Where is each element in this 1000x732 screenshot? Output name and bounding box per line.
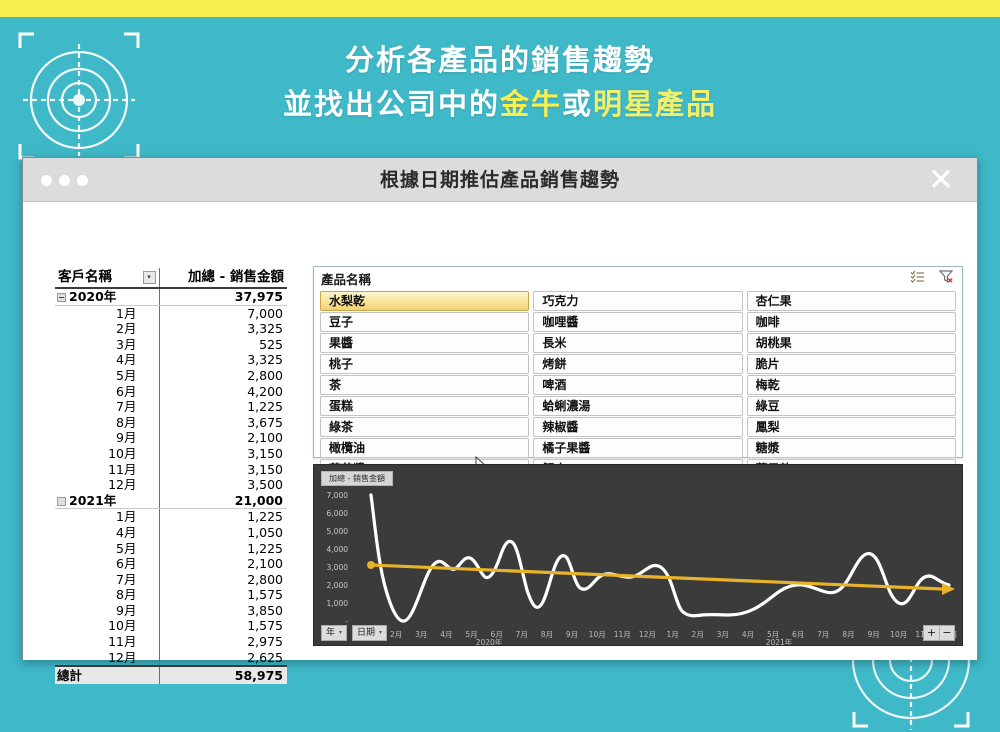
chart-x-tick: 2月 xyxy=(390,630,402,639)
chart-y-axis: 7,000 6,000 5,000 4,000 3,000 2,000 1,00… xyxy=(327,491,349,626)
pivot-row: 10月1,575 xyxy=(55,618,287,634)
pivot-row-label-text: 4月 xyxy=(116,525,136,540)
pivot-header-row: 客戶名稱 ▾ 加總 - 銷售金額 xyxy=(55,268,287,288)
pivot-row-label: 1月 xyxy=(55,509,159,525)
chart-plot-area: 7,000 6,000 5,000 4,000 3,000 2,000 1,00… xyxy=(314,465,963,646)
pivot-row-label-text: 5月 xyxy=(116,541,136,556)
slicer-item[interactable]: 蛋糕 xyxy=(320,396,529,416)
pivot-row: 1月1,225 xyxy=(55,509,287,525)
pivot-row-label-text: 12月 xyxy=(108,477,136,492)
pivot-row-value: 3,675 xyxy=(159,415,287,431)
svg-text:3,000: 3,000 xyxy=(327,563,349,572)
close-icon[interactable]: ✕ xyxy=(925,164,957,196)
pivot-row-label: 12月 xyxy=(55,650,159,667)
pivot-row: 7月2,800 xyxy=(55,572,287,588)
slicer-item[interactable]: 糖漿 xyxy=(747,438,956,458)
svg-text:2,000: 2,000 xyxy=(327,581,349,590)
pivot-total-value: 58,975 xyxy=(159,666,287,684)
chart-x-tick: 2月 xyxy=(692,630,704,639)
pivot-row-label-text: 10月 xyxy=(108,618,136,633)
headline-line1: 分析各產品的銷售趨勢 xyxy=(345,43,655,77)
pivot-row-value: 37,975 xyxy=(159,288,287,305)
svg-text:1,000: 1,000 xyxy=(327,599,349,608)
expand-collapse-icon[interactable] xyxy=(57,497,66,506)
chart-zoom-box[interactable]: + − xyxy=(923,625,955,641)
pivot-row: −2020年37,975 xyxy=(55,288,287,305)
pivot-row-label: 5月 xyxy=(55,368,159,384)
pivot-row-label: 4月 xyxy=(55,352,159,368)
pivot-row-label-text: 5月 xyxy=(116,368,136,383)
chart-x-tick: 9月 xyxy=(566,630,578,639)
chart-level-button[interactable]: 年 ▾ xyxy=(321,625,347,641)
pivot-row-value: 1,050 xyxy=(159,525,287,541)
pivot-row: 10月3,150 xyxy=(55,446,287,462)
slicer-items: 水梨乾巧克力杏仁果豆子咖哩醬咖啡果醬長米胡桃果桃子烤餅脆片茶啤酒梅乾蛋糕蛤蜊濃湯… xyxy=(320,291,956,451)
chart-group-label: 2020年 xyxy=(476,637,503,646)
slicer-item[interactable]: 綠豆 xyxy=(747,396,956,416)
chart-x-tick: 1月 xyxy=(666,630,678,639)
slicer-header-icons xyxy=(910,270,954,286)
pivot-row-value: 2,800 xyxy=(159,368,287,384)
headline-line2-part2: 或 xyxy=(562,87,593,121)
pivot-row-label: 10月 xyxy=(55,618,159,634)
pivot-row-value: 3,850 xyxy=(159,603,287,619)
headline-line2-part1: 並找出公司中的 xyxy=(283,87,500,121)
pivot-row-label-text: 2020年 xyxy=(69,289,116,304)
chart-x-tick: 3月 xyxy=(415,630,427,639)
pivot-row-label-text: 8月 xyxy=(116,415,136,430)
product-slicer: 產品名稱 xyxy=(313,266,963,458)
pivot-row-value: 2,975 xyxy=(159,634,287,650)
pivot-header-label: 客戶名稱 ▾ xyxy=(55,268,159,288)
pivot-row: 6月4,200 xyxy=(55,384,287,400)
pivot-row: 3月525 xyxy=(55,337,287,353)
pivot-row: 11月2,975 xyxy=(55,634,287,650)
chevron-down-icon-2: ▾ xyxy=(379,628,382,638)
chart-field-label: 日期 xyxy=(357,628,375,638)
pivot-row-value: 2,100 xyxy=(159,430,287,446)
chart-zoom-controls: + − xyxy=(923,625,955,641)
pivot-row-label-text: 7月 xyxy=(116,399,136,414)
chart-x-tick: 10月 xyxy=(890,630,907,639)
slicer-item[interactable]: 長米 xyxy=(533,333,742,353)
pivot-row-label-text: 1月 xyxy=(116,509,136,524)
pivot-row: 4月1,050 xyxy=(55,525,287,541)
pivot-row-label-text: 9月 xyxy=(116,430,136,445)
pivot-row-label-text: 8月 xyxy=(116,587,136,602)
pivot-group-label: 2021年 xyxy=(55,493,159,509)
pivot-row-label-text: 6月 xyxy=(116,384,136,399)
slicer-item[interactable]: 桃子 xyxy=(320,354,529,374)
pivot-row-value: 1,225 xyxy=(159,399,287,415)
pivot-row-value: 1,575 xyxy=(159,618,287,634)
chart-x-axis: 1月2月3月4月5月6月7月8月9月10月11月12月1月2月3月4月5月6月7… xyxy=(365,630,958,639)
pivot-row-label-text: 3月 xyxy=(116,337,136,352)
pivot-row-label: 2月 xyxy=(55,321,159,337)
pivot-row-value: 3,325 xyxy=(159,352,287,368)
pivot-row-label-text: 1月 xyxy=(116,306,136,321)
pivot-row-label: 6月 xyxy=(55,556,159,572)
pivot-row-label: 8月 xyxy=(55,415,159,431)
pivot-row: 1月7,000 xyxy=(55,305,287,321)
zoom-out-icon[interactable]: − xyxy=(939,626,954,640)
window-titlebar: 根據日期推估產品銷售趨勢 ✕ xyxy=(23,158,977,202)
pivot-row-label: 1月 xyxy=(55,305,159,321)
pivot-row-label: 8月 xyxy=(55,587,159,603)
slicer-item[interactable]: 咖啡 xyxy=(747,312,956,332)
pivot-row-value: 21,000 xyxy=(159,493,287,509)
target-graphic-bottom-right xyxy=(836,648,986,732)
pivot-row-label-text: 7月 xyxy=(116,572,136,587)
chart-level-label: 年 xyxy=(326,628,335,638)
pivot-row-value: 3,150 xyxy=(159,462,287,478)
pivot-header-value: 加總 - 銷售金額 xyxy=(159,268,287,288)
pivot-row-label: 3月 xyxy=(55,337,159,353)
pivot-row-value: 525 xyxy=(159,337,287,353)
headline-highlight-star-product: 明星產品 xyxy=(593,87,717,121)
pivot-row: 8月1,575 xyxy=(55,587,287,603)
slicer-header: 產品名稱 xyxy=(314,267,962,289)
pivot-row-value: 3,325 xyxy=(159,321,287,337)
headline-highlight-cash-cow: 金牛 xyxy=(500,87,562,121)
slicer-item[interactable]: 烤餅 xyxy=(533,354,742,374)
pivot-row: 5月2,800 xyxy=(55,368,287,384)
slicer-item[interactable]: 咖哩醬 xyxy=(533,312,742,332)
slicer-item[interactable]: 茶 xyxy=(320,375,529,395)
slicer-item[interactable]: 綠茶 xyxy=(320,417,529,437)
zoom-in-icon[interactable]: + xyxy=(924,626,939,640)
slicer-item[interactable]: 鳳梨 xyxy=(747,417,956,437)
expand-collapse-icon[interactable]: − xyxy=(57,293,66,302)
pivot-row-value: 3,150 xyxy=(159,446,287,462)
pivot-row-label-text: 6月 xyxy=(116,556,136,571)
slicer-title: 產品名稱 xyxy=(321,272,371,287)
pivot-total-row: 總計 58,975 xyxy=(55,666,287,684)
slicer-item[interactable]: 橘子果醬 xyxy=(533,438,742,458)
pivot-total-label: 總計 xyxy=(55,666,159,684)
pivot-row-label: 11月 xyxy=(55,634,159,650)
slicer-item[interactable]: 梅乾 xyxy=(747,375,956,395)
svg-text:6,000: 6,000 xyxy=(327,509,349,518)
pivot-row-label: 6月 xyxy=(55,384,159,400)
chart-x-tick: 7月 xyxy=(516,630,528,639)
pivot-row-label: 9月 xyxy=(55,603,159,619)
pivot-row-label-text: 9月 xyxy=(116,603,136,618)
slicer-item[interactable]: 蛤蜊濃湯 xyxy=(533,396,742,416)
pivot-row-label: 12月 xyxy=(55,477,159,493)
pivot-row-label-text: 10月 xyxy=(108,446,136,461)
pivot-body: −2020年37,9751月7,0002月3,3253月5254月3,3255月… xyxy=(55,288,287,666)
slicer-item[interactable]: 橄欖油 xyxy=(320,438,529,458)
chart-x-tick: 3月 xyxy=(717,630,729,639)
chart-level-controls: 年 ▾ 日期 ▾ xyxy=(321,625,387,641)
chart-x-tick: 10月 xyxy=(589,630,606,639)
pivot-row: 8月3,675 xyxy=(55,415,287,431)
pivot-row-label: 7月 xyxy=(55,399,159,415)
chart-group-label: 2021年 xyxy=(766,637,793,646)
chevron-down-icon: ▾ xyxy=(339,628,342,638)
pivot-row: 7月1,225 xyxy=(55,399,287,415)
slicer-item[interactable]: 辣椒醬 xyxy=(533,417,742,437)
pivot-group-label: −2020年 xyxy=(55,288,159,305)
slicer-item[interactable]: 胡桃果 xyxy=(747,333,956,353)
pivot-row-value: 1,225 xyxy=(159,509,287,525)
pivot-row-label: 9月 xyxy=(55,430,159,446)
slicer-item[interactable]: 脆片 xyxy=(747,354,956,374)
pivot-row-value: 1,575 xyxy=(159,587,287,603)
svg-text:4,000: 4,000 xyxy=(327,545,349,554)
pivot-row-label: 5月 xyxy=(55,541,159,557)
pivot-row: 2021年21,000 xyxy=(55,493,287,509)
pivot-row: 9月3,850 xyxy=(55,603,287,619)
pivot-row-value: 3,500 xyxy=(159,477,287,493)
pivot-row-label: 10月 xyxy=(55,446,159,462)
pivot-row: 9月2,100 xyxy=(55,430,287,446)
app-window: 根據日期推估產品銷售趨勢 ✕ 客戶名稱 ▾ 加總 - 銷售金額 −2020年37… xyxy=(22,157,978,660)
pivot-row-label: 11月 xyxy=(55,462,159,478)
pivot-filter-button[interactable]: ▾ xyxy=(143,271,156,284)
slicer-item[interactable]: 果醬 xyxy=(320,333,529,353)
pivot-row: 11月3,150 xyxy=(55,462,287,478)
chart-x-tick: 8月 xyxy=(842,630,854,639)
pivot-row-value: 2,625 xyxy=(159,650,287,667)
pivot-row-value: 4,200 xyxy=(159,384,287,400)
slicer-item[interactable]: 巧克力 xyxy=(533,291,742,311)
chart-x-tick: 9月 xyxy=(867,630,879,639)
pivot-row-label-text: 4月 xyxy=(116,352,136,367)
svg-text:7,000: 7,000 xyxy=(327,491,349,500)
slicer-item[interactable]: 豆子 xyxy=(320,312,529,332)
chart-x-tick: 7月 xyxy=(817,630,829,639)
pivot-row-label: 4月 xyxy=(55,525,159,541)
pivot-row-value: 2,800 xyxy=(159,572,287,588)
pivot-row-value: 1,225 xyxy=(159,541,287,557)
pivot-row-label-text: 11月 xyxy=(108,462,136,477)
slicer-item[interactable]: 啤酒 xyxy=(533,375,742,395)
pivot-row-label-text: 2月 xyxy=(116,321,136,336)
chart-x-tick: 4月 xyxy=(742,630,754,639)
svg-text:5,000: 5,000 xyxy=(327,527,349,536)
sales-trend-chart: 加總 - 銷售金額 7,000 6,000 5,000 4,000 3,000 … xyxy=(313,464,963,646)
pivot-row-value: 2,100 xyxy=(159,556,287,572)
page-headline: 分析各產品的銷售趨勢 並找出公司中的金牛或明星產品 xyxy=(0,40,1000,124)
pivot-row-label-text: 2021年 xyxy=(69,493,116,508)
chart-x-tick: 6月 xyxy=(792,630,804,639)
chart-x-tick: 11月 xyxy=(614,630,631,639)
headline-line2: 並找出公司中的金牛或明星產品 xyxy=(0,84,1000,124)
slicer-item[interactable]: 杏仁果 xyxy=(747,291,956,311)
pivot-row: 5月1,225 xyxy=(55,541,287,557)
pivot-row: 12月3,500 xyxy=(55,477,287,493)
top-accent-band xyxy=(0,0,1000,17)
multi-select-icon[interactable] xyxy=(910,270,925,286)
chart-x-tick: 8月 xyxy=(541,630,553,639)
chart-field-button[interactable]: 日期 ▾ xyxy=(352,625,387,641)
pivot-header-label-text: 客戶名稱 xyxy=(58,269,112,285)
window-title: 根據日期推估產品銷售趨勢 xyxy=(23,158,977,202)
pivot-row-value: 7,000 xyxy=(159,305,287,321)
chart-series-sales xyxy=(371,495,949,621)
pivot-table: 客戶名稱 ▾ 加總 - 銷售金額 −2020年37,9751月7,0002月3,… xyxy=(55,268,287,684)
pivot-row-label: 7月 xyxy=(55,572,159,588)
pivot-row: 6月2,100 xyxy=(55,556,287,572)
pivot-row: 12月2,625 xyxy=(55,650,287,667)
slicer-item[interactable]: 水梨乾 xyxy=(320,291,529,311)
clear-filter-icon[interactable] xyxy=(939,270,954,286)
pivot-row: 2月3,325 xyxy=(55,321,287,337)
chart-x-tick: 12月 xyxy=(639,630,656,639)
chart-x-tick: 4月 xyxy=(440,630,452,639)
pivot-row-label-text: 11月 xyxy=(108,634,136,649)
pivot-row-label-text: 12月 xyxy=(108,650,136,665)
window-body: 客戶名稱 ▾ 加總 - 銷售金額 −2020年37,9751月7,0002月3,… xyxy=(23,202,977,660)
pivot-row: 4月3,325 xyxy=(55,352,287,368)
